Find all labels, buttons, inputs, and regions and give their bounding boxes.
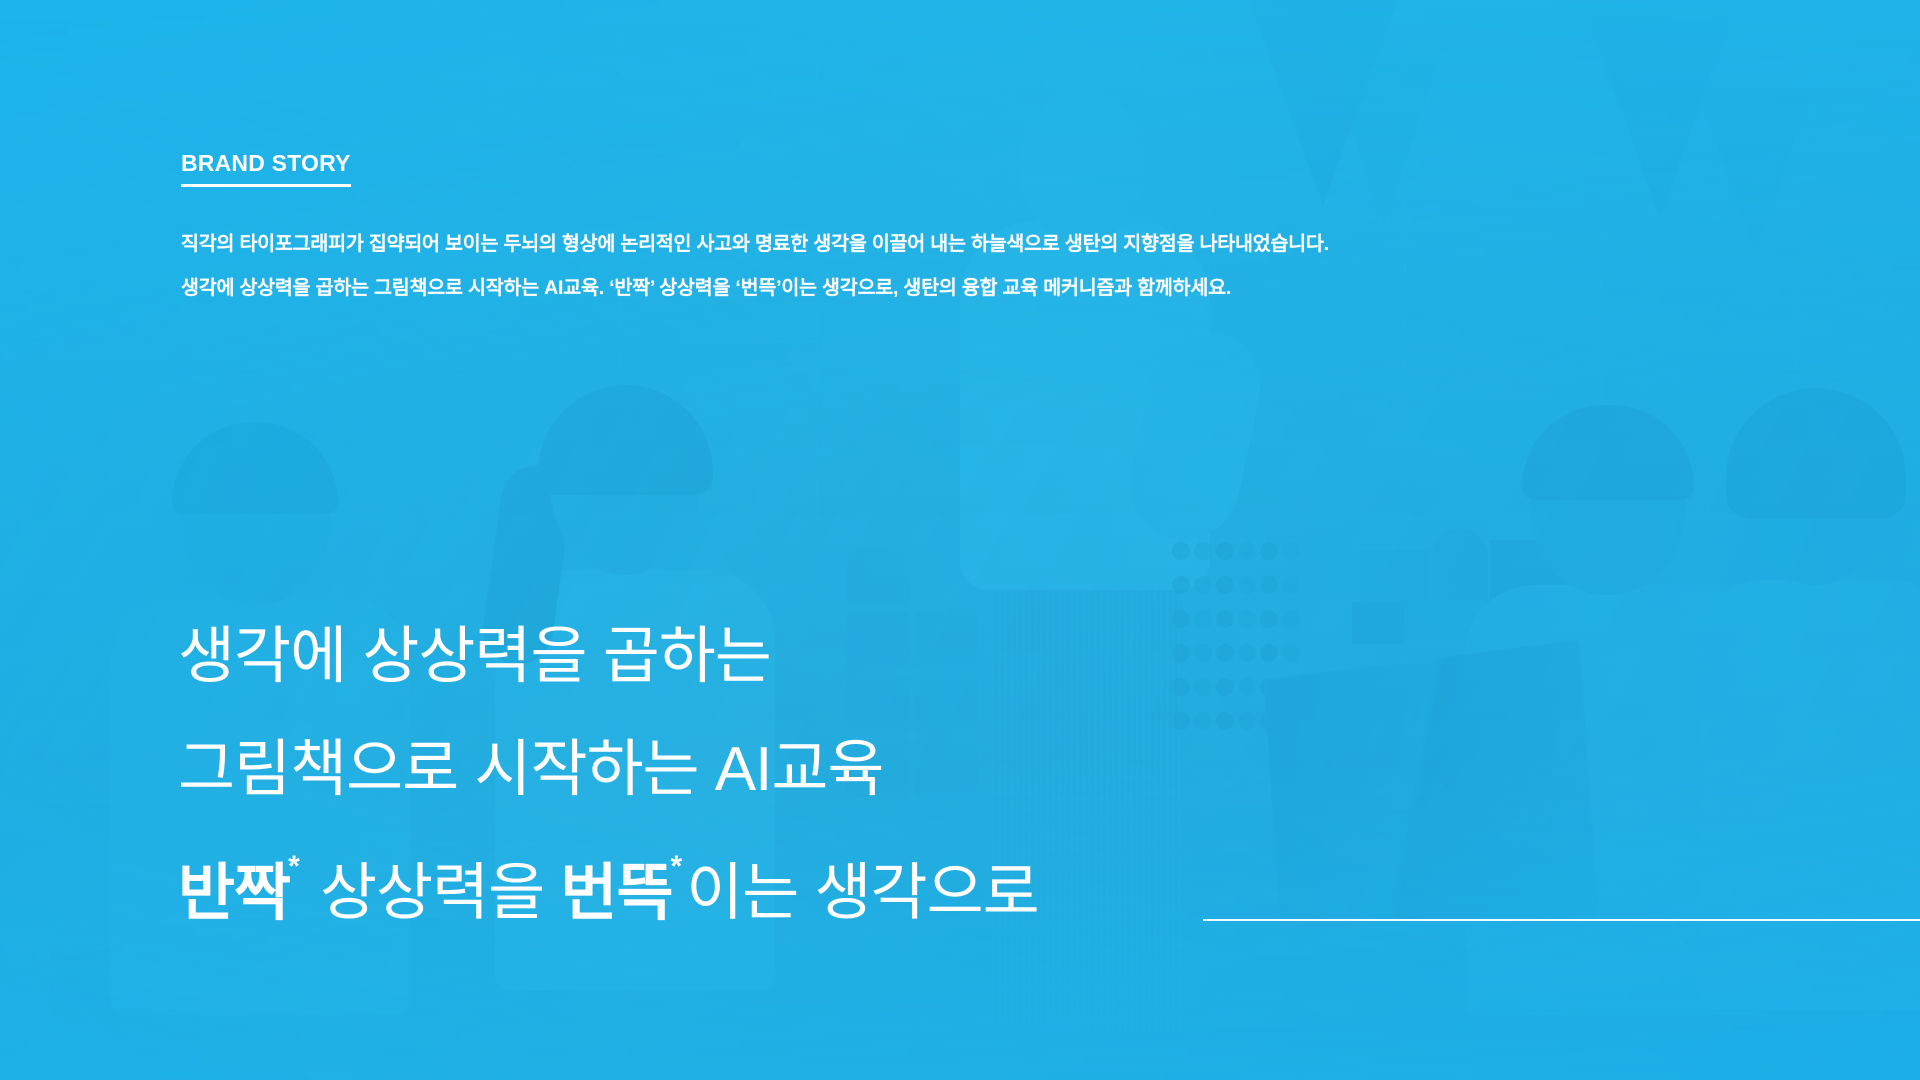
asterisk-marker-1: * — [288, 850, 300, 883]
headline-emphasis-banjjak: 반짝 — [178, 859, 292, 928]
headline-line-2: 그림책으로 시작하는 AI교육 — [178, 713, 1039, 826]
headline-line-3-middle: 상상력을 — [304, 859, 561, 928]
headline-line-3: 반짝* 상상력을 번뜩*이는 생각으로 — [178, 826, 1039, 950]
asterisk-marker-2: * — [671, 850, 683, 883]
lead-line-1: 직각의 타이포그래피가 집약되어 보이는 두뇌의 형상에 논리적인 사고와 명료… — [181, 222, 1741, 266]
lead-paragraph: 직각의 타이포그래피가 집약되어 보이는 두뇌의 형상에 논리적인 사고와 명료… — [181, 222, 1741, 310]
hero-content: BRAND STORY 직각의 타이포그래피가 집약되어 보이는 두뇌의 형상에… — [0, 0, 1920, 1080]
headline-line-1: 생각에 상상력을 곱하는 — [178, 600, 1039, 713]
headline-emphasis-beontteuk: 번뜩 — [560, 859, 674, 928]
headline-divider-rule — [1203, 919, 1920, 921]
brand-story-eyebrow: BRAND STORY — [181, 152, 351, 187]
lead-line-2: 생각에 상상력을 곱하는 그림책으로 시작하는 AI교육. ‘반짝’ 상상력을 … — [181, 266, 1741, 310]
hero-headline: 생각에 상상력을 곱하는 그림책으로 시작하는 AI교육 반짝* 상상력을 번뜩… — [178, 600, 1039, 950]
headline-line-3-tail: 이는 생각으로 — [686, 859, 1038, 928]
brand-story-hero: BRAND STORY 직각의 타이포그래피가 집약되어 보이는 두뇌의 형상에… — [0, 0, 1920, 1080]
